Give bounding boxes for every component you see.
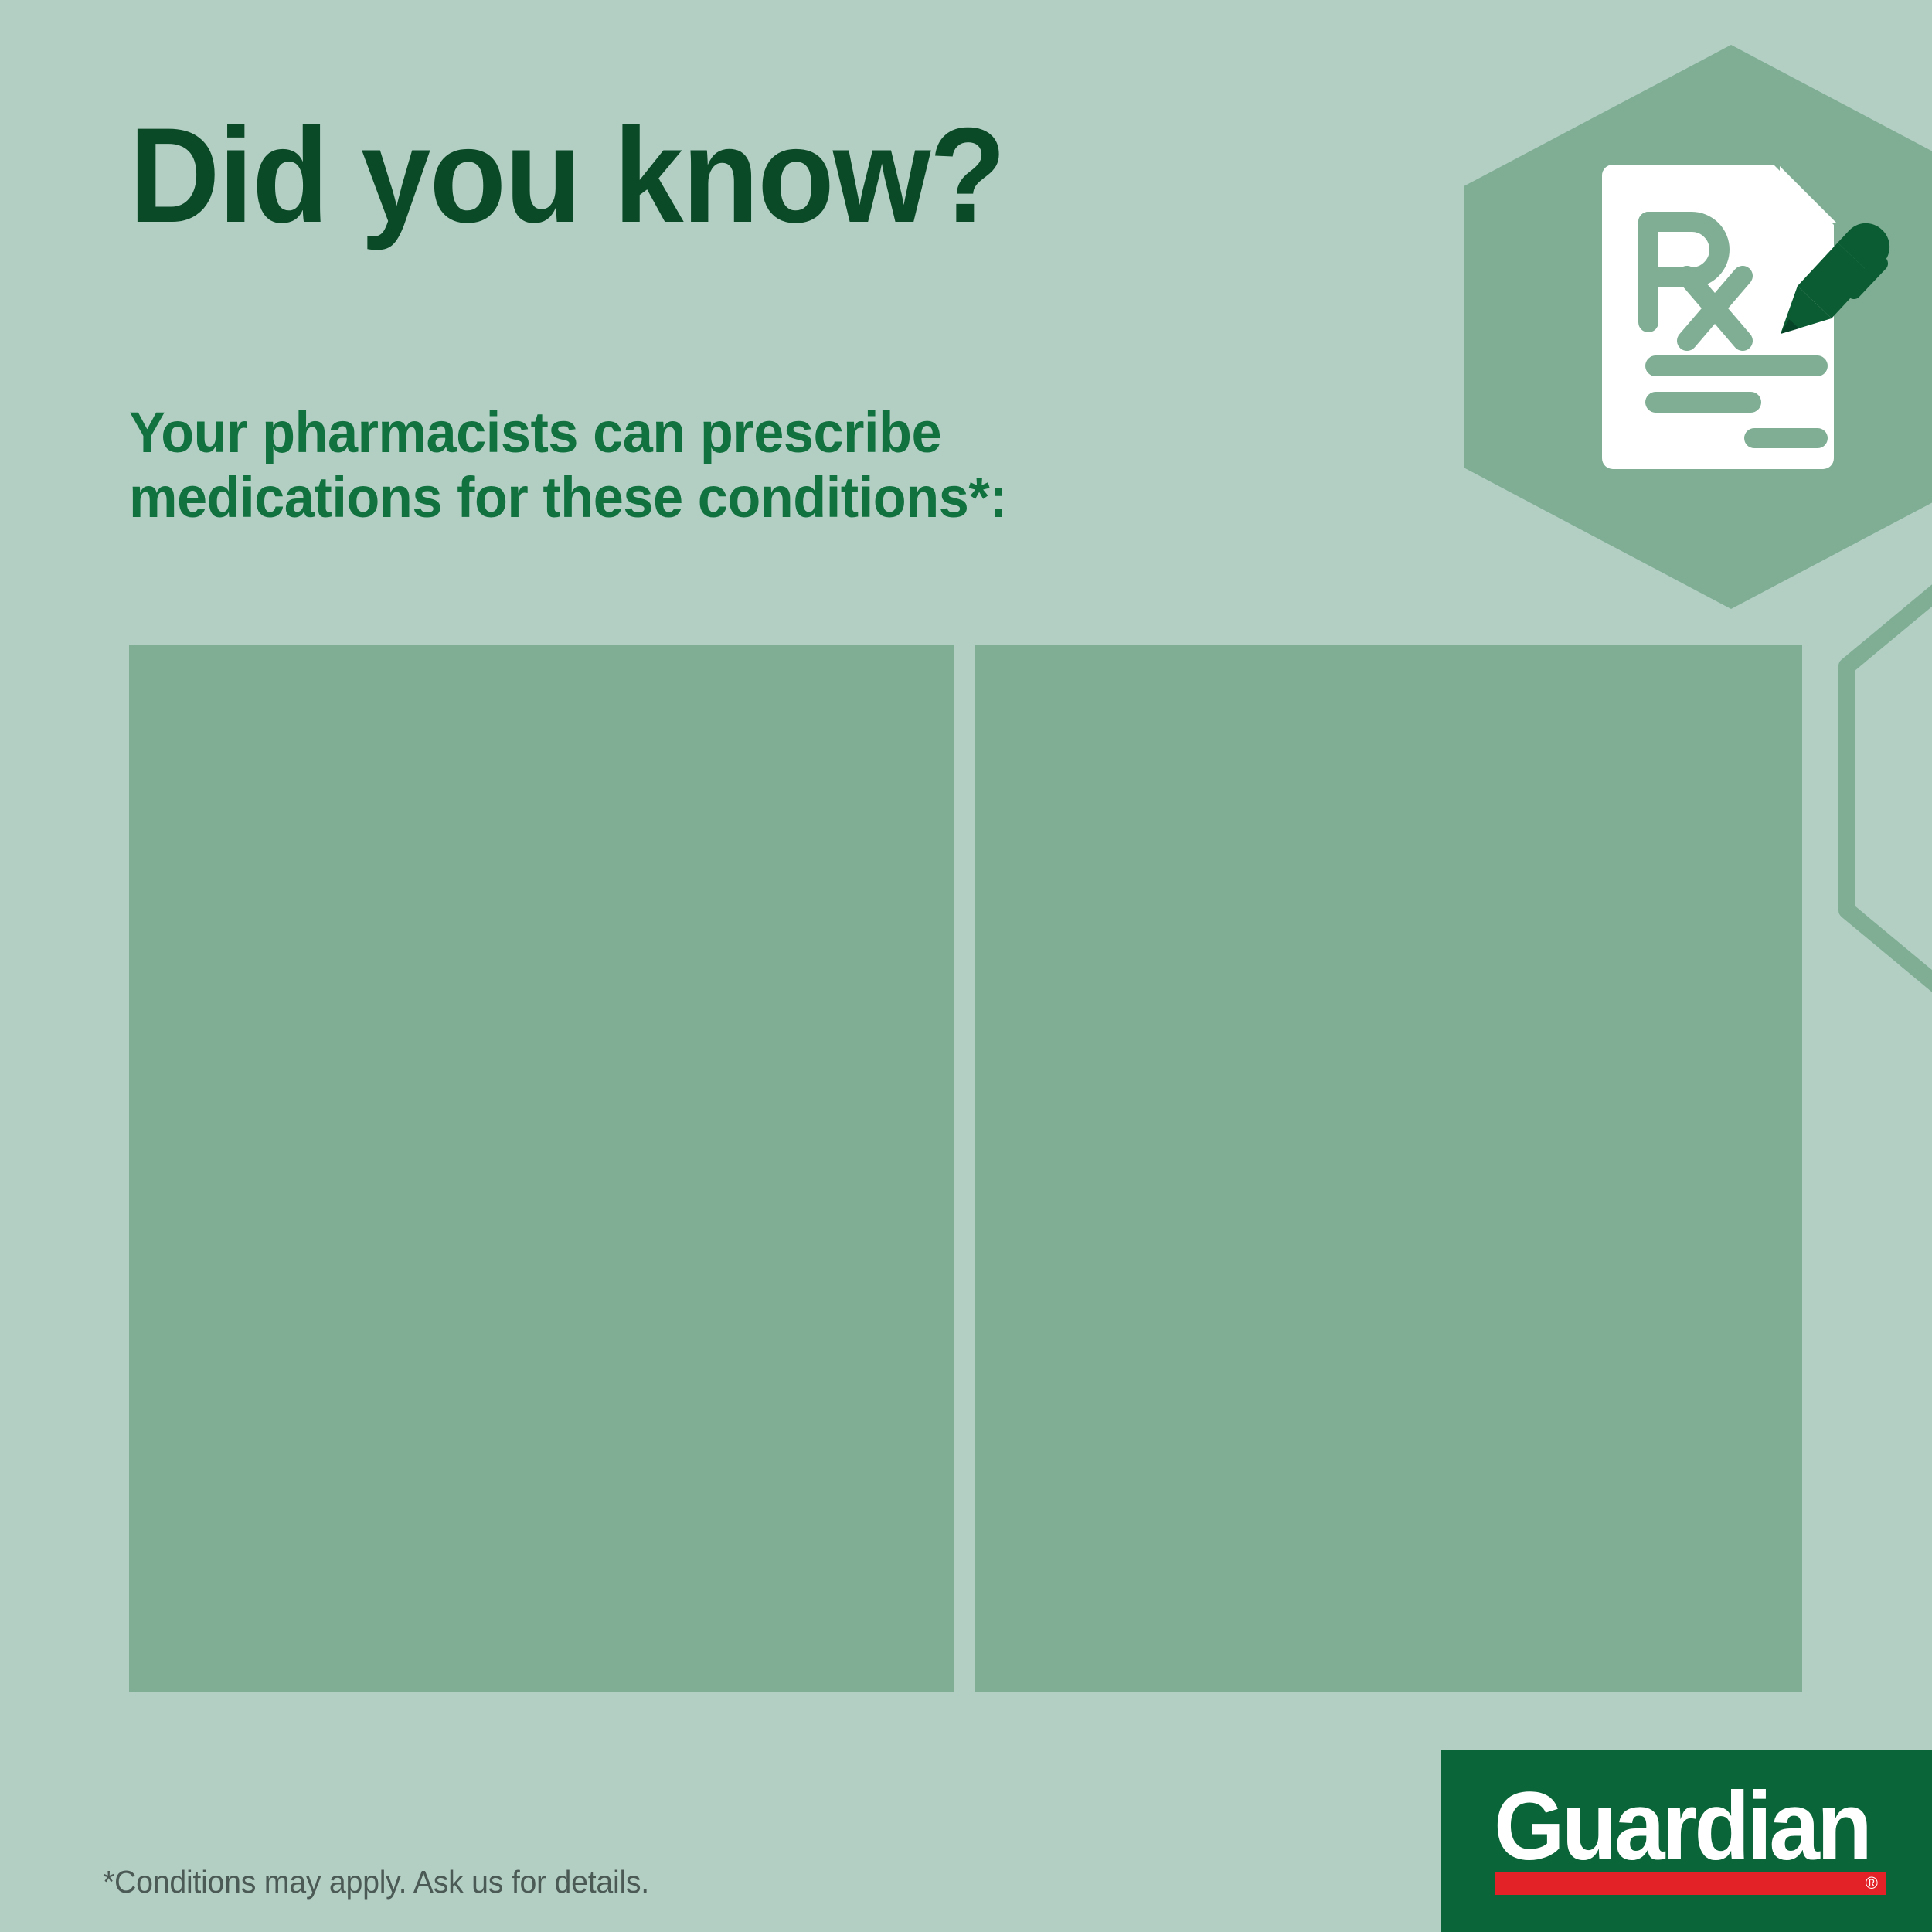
guardian-logo: Guardian ® [1441, 1750, 1932, 1932]
registered-trademark-icon: ® [1866, 1873, 1878, 1893]
page-title: Did you know? [129, 108, 1005, 243]
guardian-wordmark: Guardian [1494, 1778, 1869, 1875]
content-panel-left [129, 645, 954, 1692]
footnote-disclaimer: *Conditions may apply. Ask us for detail… [103, 1864, 649, 1900]
content-panel-right [975, 645, 1802, 1692]
guardian-red-rule: ® [1495, 1872, 1886, 1895]
rx-prescription-document-icon [1588, 158, 1905, 475]
hexagon-outline-icon [1832, 533, 1932, 1043]
poster-canvas: Did you know? Your pharmacists can presc… [0, 0, 1932, 1932]
page-subtitle: Your pharmacists can prescribe medicatio… [129, 400, 1007, 529]
